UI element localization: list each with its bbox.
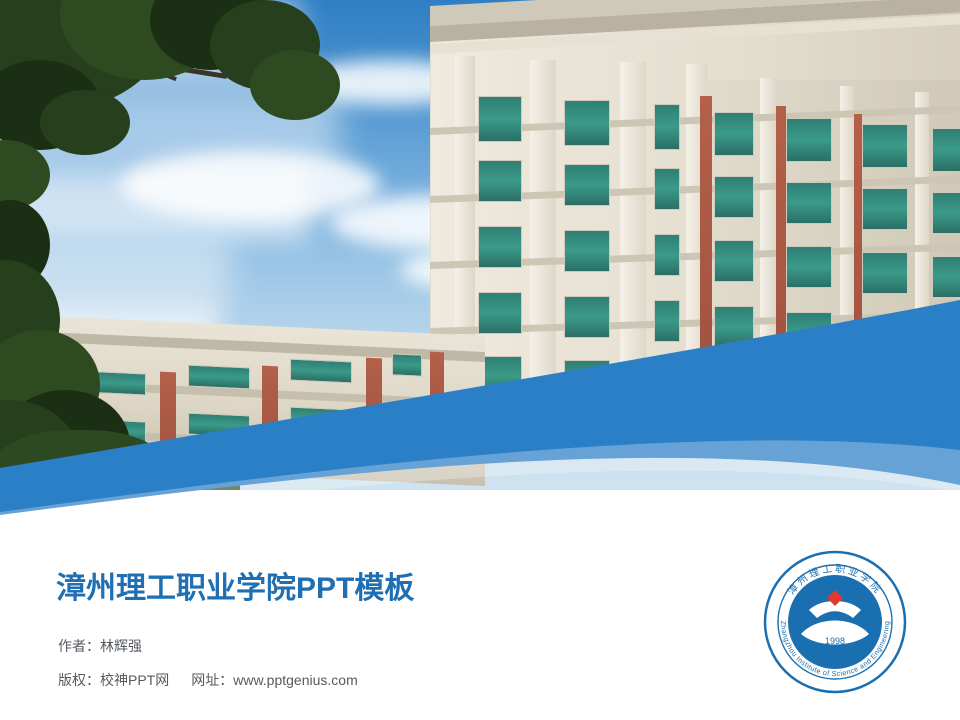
- building-window: [862, 380, 908, 418]
- building-window: [654, 234, 680, 276]
- building-window: [188, 365, 250, 390]
- slide-root: 漳州理工职业学院PPT模板 作者：林辉强 版权：校神PPT网网址：www.ppt…: [0, 0, 960, 720]
- school-emblem-graphic: 1998 漳州理工职业学院 Zhangzhou Institute of Sci…: [761, 548, 909, 696]
- building-window: [392, 401, 422, 424]
- copyright-label: 版权：: [58, 672, 100, 688]
- building-window: [654, 168, 680, 210]
- campus-building-photo: [0, 0, 960, 490]
- building-window: [654, 364, 680, 404]
- building-window: [714, 176, 754, 218]
- svg-text:1998: 1998: [825, 636, 845, 646]
- building-window: [564, 360, 610, 400]
- building-window: [862, 188, 908, 230]
- tree-foliage: [250, 50, 340, 120]
- author-label: 作者：: [58, 638, 100, 654]
- copyright-value: 校神PPT网: [100, 672, 169, 688]
- building-window: [862, 252, 908, 294]
- facade-red-panel: [262, 366, 278, 477]
- building-window: [786, 182, 832, 224]
- building-window: [478, 226, 522, 268]
- url-value: www.pptgenius.com: [233, 672, 358, 688]
- facade-column: [530, 60, 556, 420]
- building-window: [290, 359, 352, 384]
- facade-red-panel: [776, 106, 786, 426]
- school-emblem: 1998 漳州理工职业学院 Zhangzhou Institute of Sci…: [761, 548, 909, 696]
- building-window: [862, 124, 908, 168]
- building-window: [188, 413, 250, 438]
- url-label: 网址：: [191, 672, 233, 688]
- building-window: [564, 230, 610, 272]
- building-window: [478, 96, 522, 142]
- building-window: [862, 318, 908, 360]
- building-window: [932, 192, 960, 234]
- building-window: [290, 407, 352, 432]
- building-window: [564, 296, 610, 338]
- building-window: [654, 104, 680, 150]
- facade-red-panel: [430, 352, 444, 463]
- building-window: [932, 128, 960, 172]
- building-window: [654, 300, 680, 342]
- building-window: [786, 312, 832, 354]
- building-window: [478, 292, 522, 334]
- building-window: [478, 160, 522, 202]
- facade-column: [620, 62, 646, 422]
- building-window: [714, 306, 754, 348]
- building-window: [786, 118, 832, 162]
- copyright-line: 版权：校神PPT网网址：www.pptgenius.com: [58, 670, 358, 690]
- building-window: [564, 164, 610, 206]
- building-window: [786, 374, 832, 412]
- building-window: [932, 256, 960, 298]
- author-line: 作者：林辉强: [58, 636, 142, 656]
- building-window: [714, 370, 754, 408]
- building-window: [932, 322, 960, 364]
- building-window: [786, 246, 832, 288]
- building-window: [714, 112, 754, 156]
- page-title: 漳州理工职业学院PPT模板: [56, 563, 414, 607]
- facade-red-panel: [854, 114, 862, 426]
- facade-red-panel: [700, 96, 712, 426]
- building-window: [714, 240, 754, 282]
- facade-red-panel: [366, 358, 382, 469]
- building-window: [564, 100, 610, 146]
- building-window: [392, 353, 422, 376]
- tree-foliage: [40, 90, 130, 155]
- author-name: 林辉强: [100, 638, 142, 654]
